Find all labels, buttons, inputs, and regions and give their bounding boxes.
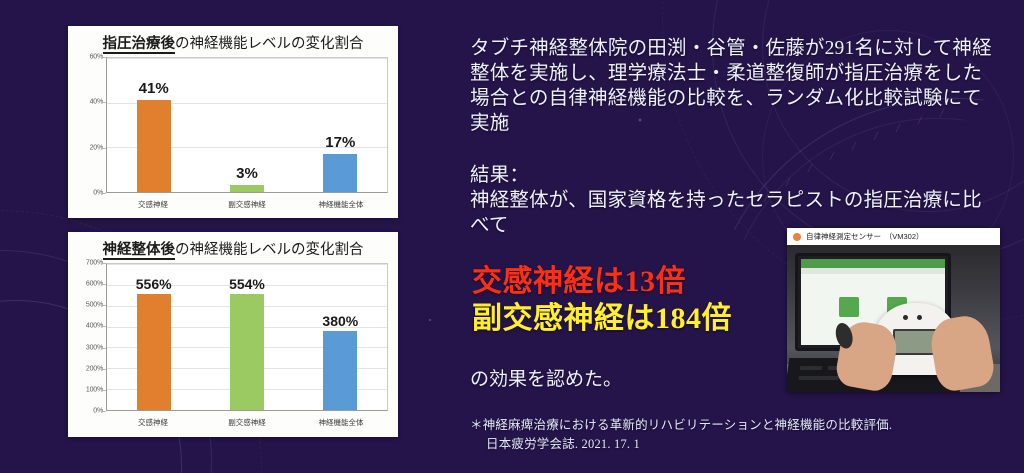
y-axis-shiatsu: 0%20%40%60% bbox=[72, 57, 106, 193]
x-tick-label: 副交感神経 bbox=[200, 413, 294, 433]
plot-region-seitai: 556%554%380% bbox=[106, 263, 388, 411]
highlight-block: 交感神経は13倍 副交感神経は184倍 bbox=[472, 264, 812, 338]
bar-value-label: 556% bbox=[136, 276, 172, 292]
bar-column: 380% bbox=[294, 264, 387, 410]
bar-value-label: 3% bbox=[236, 165, 258, 182]
x-axis-seitai: 交感神経副交感神経神経機能全体 bbox=[106, 413, 388, 433]
x-tick-label: 神経機能全体 bbox=[294, 195, 388, 215]
y-tick-mark bbox=[103, 411, 106, 412]
photo-image bbox=[787, 245, 1000, 392]
bar bbox=[137, 294, 171, 410]
highlight-sympathetic: 交感神経は13倍 bbox=[472, 264, 812, 300]
screen-toolbar bbox=[801, 259, 945, 268]
chart-title-shiatsu: 指圧治療後の神経機能レベルの変化割合 bbox=[68, 26, 398, 53]
bar-value-label: 17% bbox=[325, 134, 355, 151]
y-tick-label: 20% bbox=[90, 144, 103, 151]
chart-title-emphasis: 神経整体後 bbox=[103, 242, 176, 260]
x-tick-label: 交感神経 bbox=[106, 195, 200, 215]
intro-paragraph: タブチ神経整体院の田渕・谷管・佐藤が291名に対して神経整体を実施し、理学療法士… bbox=[470, 36, 998, 136]
y-tick-label: 40% bbox=[90, 99, 103, 106]
chart-card-seitai: 神経整体後の神経機能レベルの変化割合 0%100%200%300%400%500… bbox=[68, 232, 398, 437]
chart-title-emphasis: 指圧治療後 bbox=[103, 36, 176, 54]
citation-line-2: 日本疲労学会誌. 2021. 17. 1 bbox=[470, 435, 1010, 454]
y-tick-label: 700% bbox=[86, 260, 103, 267]
screen-icon-left bbox=[839, 297, 859, 317]
chart-title-seitai: 神経整体後の神経機能レベルの変化割合 bbox=[68, 232, 398, 259]
photo-caption-text: 自律神経測定センサー （VM302） bbox=[806, 231, 924, 242]
highlight-parasympathetic: 副交感神経は184倍 bbox=[472, 300, 812, 338]
y-tick-label: 300% bbox=[86, 344, 103, 351]
y-tick-label: 0% bbox=[93, 190, 103, 197]
plot-region-shiatsu: 41%3%17% bbox=[106, 57, 388, 193]
bar-column: 17% bbox=[294, 58, 387, 192]
y-tick-mark bbox=[103, 193, 106, 194]
chart-plot-area-seitai: 0%100%200%300%400%500%600%700% 556%554%3… bbox=[72, 263, 390, 433]
bar bbox=[230, 294, 264, 410]
bar-value-label: 554% bbox=[229, 276, 265, 292]
chart-title-rest: の神経機能レベルの変化割合 bbox=[175, 36, 364, 52]
y-tick-label: 400% bbox=[86, 323, 103, 330]
x-tick-label: 副交感神経 bbox=[200, 195, 294, 215]
y-tick-label: 100% bbox=[86, 386, 103, 393]
bar-group-shiatsu: 41%3%17% bbox=[107, 58, 387, 192]
bar-column: 3% bbox=[200, 58, 293, 192]
bar bbox=[230, 185, 264, 192]
chart-plot-area-shiatsu: 0%20%40%60% 41%3%17% 交感神経副交感神経神経機能全体 bbox=[72, 57, 390, 215]
y-tick-label: 500% bbox=[86, 302, 103, 309]
bar-column: 556% bbox=[107, 264, 200, 410]
right-hand bbox=[927, 313, 997, 392]
citation-line-1: ＊神経麻痺治療における革新的リハビリテーションと神経機能の比較評価. bbox=[470, 416, 1010, 435]
x-tick-label: 交感神経 bbox=[106, 413, 200, 433]
sensor-photo-card: 自律神経測定センサー （VM302） bbox=[787, 228, 1000, 392]
x-tick-label: 神経機能全体 bbox=[294, 413, 388, 433]
result-heading: 結果： bbox=[470, 163, 998, 188]
bar-column: 41% bbox=[107, 58, 200, 192]
bar-value-label: 41% bbox=[139, 80, 169, 97]
citation: ＊神経麻痺治療における革新的リハビリテーションと神経機能の比較評価. 日本疲労学… bbox=[470, 416, 1010, 454]
chart-card-shiatsu: 指圧治療後の神経機能レベルの変化割合 0%20%40%60% 41%3%17% … bbox=[68, 26, 398, 218]
y-tick-label: 600% bbox=[86, 281, 103, 288]
result-block: 結果： 神経整体が、国家資格を持ったセラピストの指圧治療に比べて bbox=[470, 163, 998, 238]
y-tick-label: 200% bbox=[86, 365, 103, 372]
bar-group-seitai: 556%554%380% bbox=[107, 264, 387, 410]
x-axis-shiatsu: 交感神経副交感神経神経機能全体 bbox=[106, 195, 388, 215]
bar-value-label: 380% bbox=[322, 313, 358, 329]
chart-title-rest: の神経機能レベルの変化割合 bbox=[175, 242, 364, 258]
device-indicator-left bbox=[903, 315, 908, 320]
y-axis-seitai: 0%100%200%300%400%500%600%700% bbox=[72, 263, 106, 411]
bullet-dot-icon bbox=[793, 233, 801, 241]
bar bbox=[137, 100, 171, 192]
y-tick-label: 60% bbox=[90, 54, 103, 61]
photo-caption-bar: 自律神経測定センサー （VM302） bbox=[787, 228, 1000, 245]
device-indicator-right bbox=[917, 315, 922, 320]
bar-column: 554% bbox=[200, 264, 293, 410]
y-tick-label: 0% bbox=[93, 408, 103, 415]
screen-subbar bbox=[801, 268, 945, 274]
bar bbox=[323, 154, 357, 192]
bar bbox=[323, 331, 357, 410]
presentation-slide: 指圧治療後の神経機能レベルの変化割合 0%20%40%60% 41%3%17% … bbox=[0, 0, 1024, 473]
